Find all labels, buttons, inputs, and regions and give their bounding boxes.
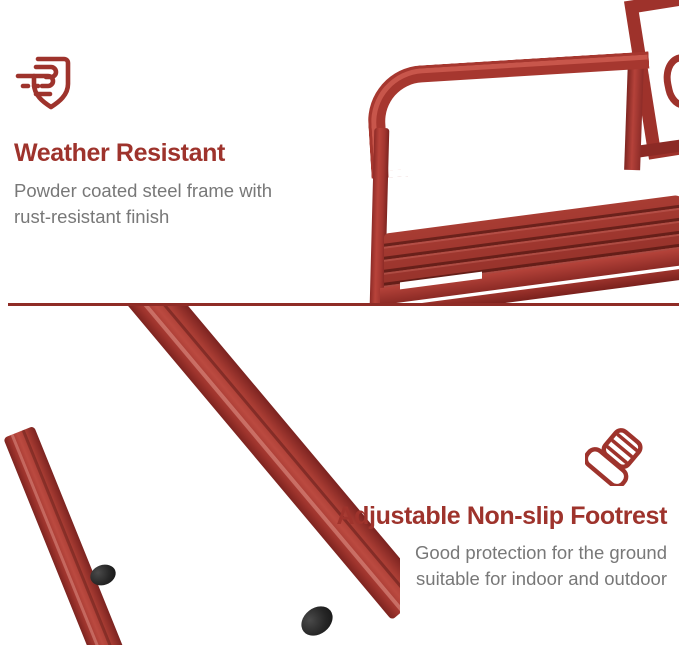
bench-armrest-and-seat-photo (340, 0, 679, 306)
feature-description: Powder coated steel frame with rust-resi… (14, 178, 334, 231)
feature-description: Good protection for the ground suitable … (267, 540, 667, 593)
feature-title: Adjustable Non-slip Footrest (267, 502, 667, 531)
non-slip-foot-cap (296, 600, 339, 641)
bench-armrest (365, 51, 655, 178)
feature-title: Weather Resistant (14, 139, 334, 168)
bench-leg-secondary (3, 426, 127, 645)
feature-infographic: Weather Resistant Powder coated steel fr… (0, 0, 679, 645)
screw-bolt-icon (267, 428, 667, 486)
feature-weather-resistant: Weather Resistant Powder coated steel fr… (14, 54, 334, 231)
feature-adjustable-non-slip-footrest: Adjustable Non-slip Footrest Good protec… (267, 428, 667, 593)
shield-wind-icon (14, 54, 334, 117)
